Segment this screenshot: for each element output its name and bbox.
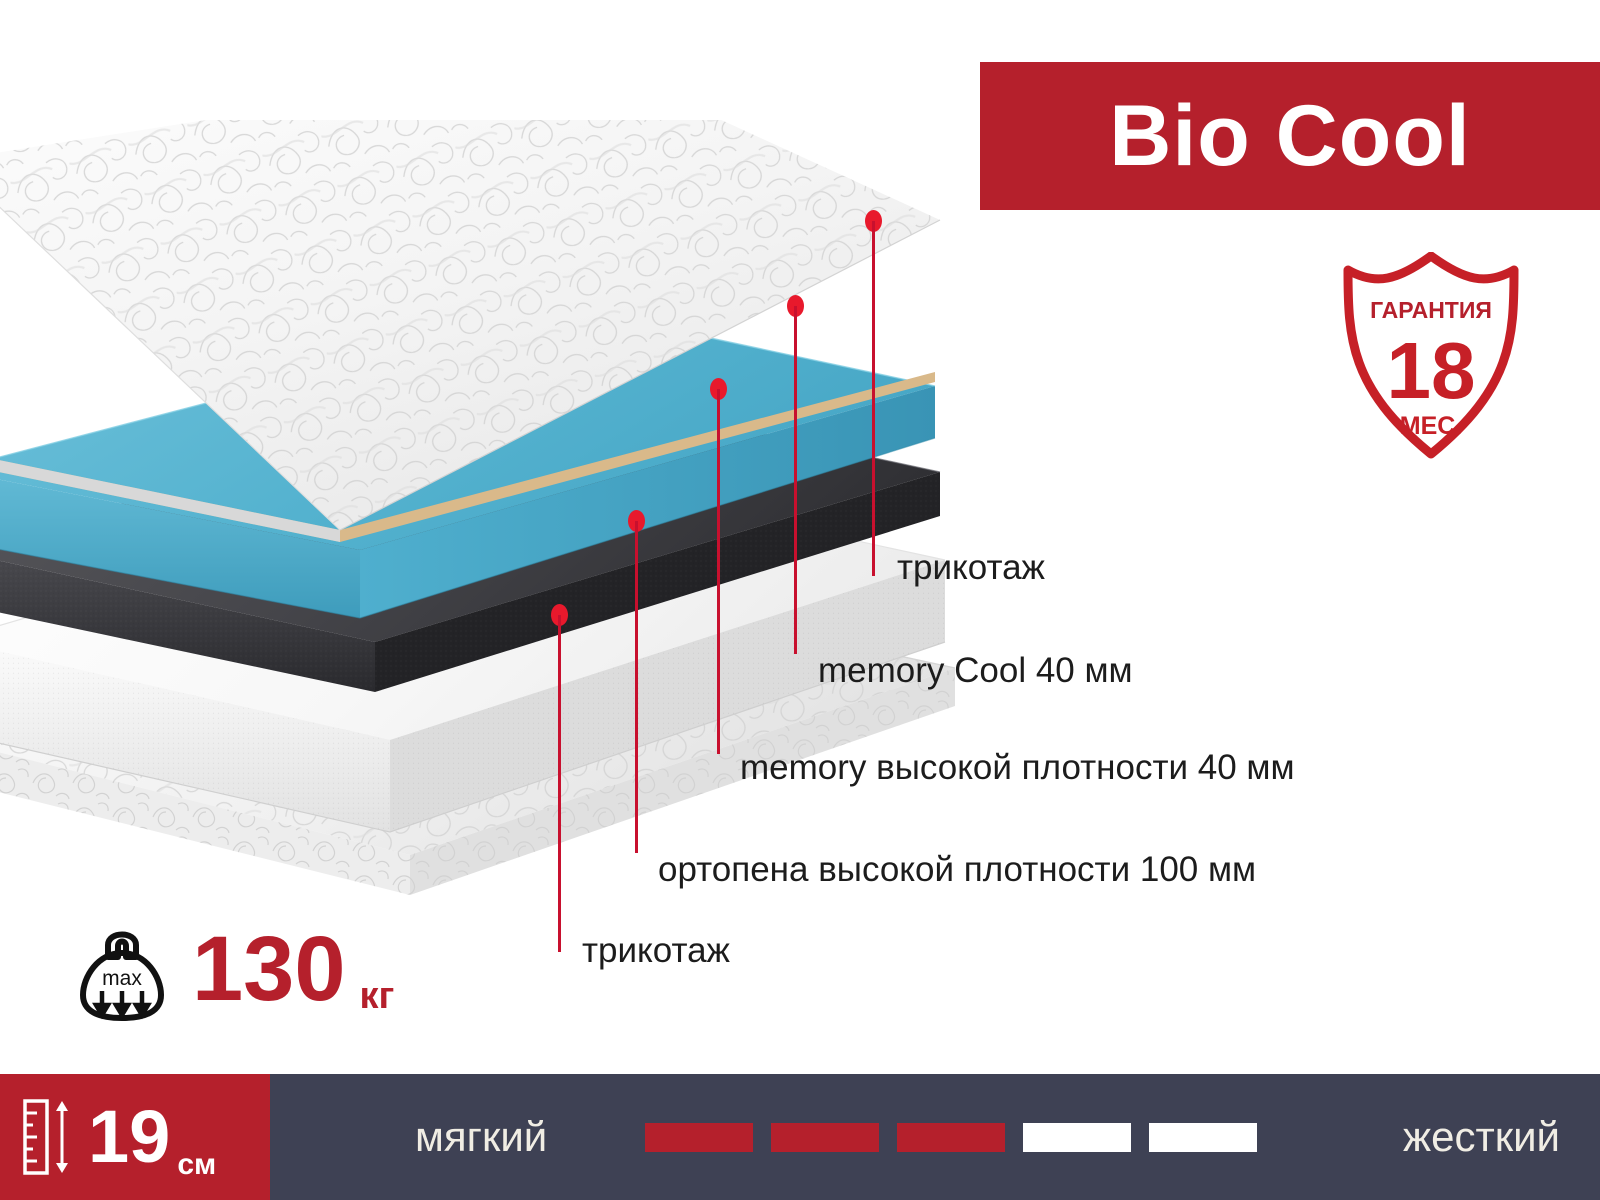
kettlebell-max-label: max <box>102 967 142 990</box>
firmness-scale <box>645 1123 1257 1152</box>
callout-label-top-knit: трикотаж <box>897 550 1045 585</box>
firmness-segment-3 <box>897 1123 1005 1152</box>
callout-line-top-knit <box>872 221 875 576</box>
max-load-unit: кг <box>360 977 395 1023</box>
callout-label-bottom-knit: трикотаж <box>582 933 730 968</box>
firmness-hard-label: жесткий <box>1403 1116 1560 1158</box>
firmness-segment-2 <box>771 1123 879 1152</box>
mattress-height-block: 19 см <box>0 1074 270 1200</box>
callout-label-ortopena: ортопена высокой плотности 100 мм <box>658 852 1256 887</box>
product-infographic: Bio Cool ГАРАНТИЯ 18 МЕС. трикотаж memor… <box>0 0 1600 1200</box>
warranty-value: 18 <box>1387 326 1476 415</box>
product-title-banner: Bio Cool <box>980 62 1600 210</box>
bottom-spec-bar: 19 см мягкий жесткий <box>0 1074 1600 1200</box>
firmness-segment-5 <box>1149 1123 1257 1152</box>
callout-line-bottom-knit <box>558 615 561 952</box>
max-load-section: max 130 кг <box>78 915 394 1023</box>
page-title: Bio Cool <box>1109 93 1471 179</box>
mattress-height-value: 19 <box>88 1100 170 1174</box>
warranty-badge: ГАРАНТИЯ 18 МЕС. <box>1336 252 1526 462</box>
mattress-layers-illustration <box>0 120 990 920</box>
firmness-segment-4 <box>1023 1123 1131 1152</box>
firmness-segment-1 <box>645 1123 753 1152</box>
kettlebell-icon: max <box>78 915 166 1023</box>
callout-label-memory-cool: memory Cool 40 мм <box>818 653 1133 688</box>
callout-line-memory-cool <box>794 306 797 654</box>
ruler-icon <box>22 1098 74 1176</box>
firmness-soft-label: мягкий <box>415 1116 547 1158</box>
callout-line-ortopena <box>635 521 638 853</box>
mattress-height-unit: см <box>177 1150 216 1200</box>
max-load-value: 130 <box>192 923 346 1015</box>
warranty-unit: МЕС. <box>1400 412 1463 440</box>
firmness-scale-block: мягкий жесткий <box>270 1074 1600 1200</box>
callout-label-memory-density: memory высокой плотности 40 мм <box>740 750 1295 785</box>
warranty-top-label: ГАРАНТИЯ <box>1370 297 1492 323</box>
callout-line-memory-density <box>717 389 720 754</box>
